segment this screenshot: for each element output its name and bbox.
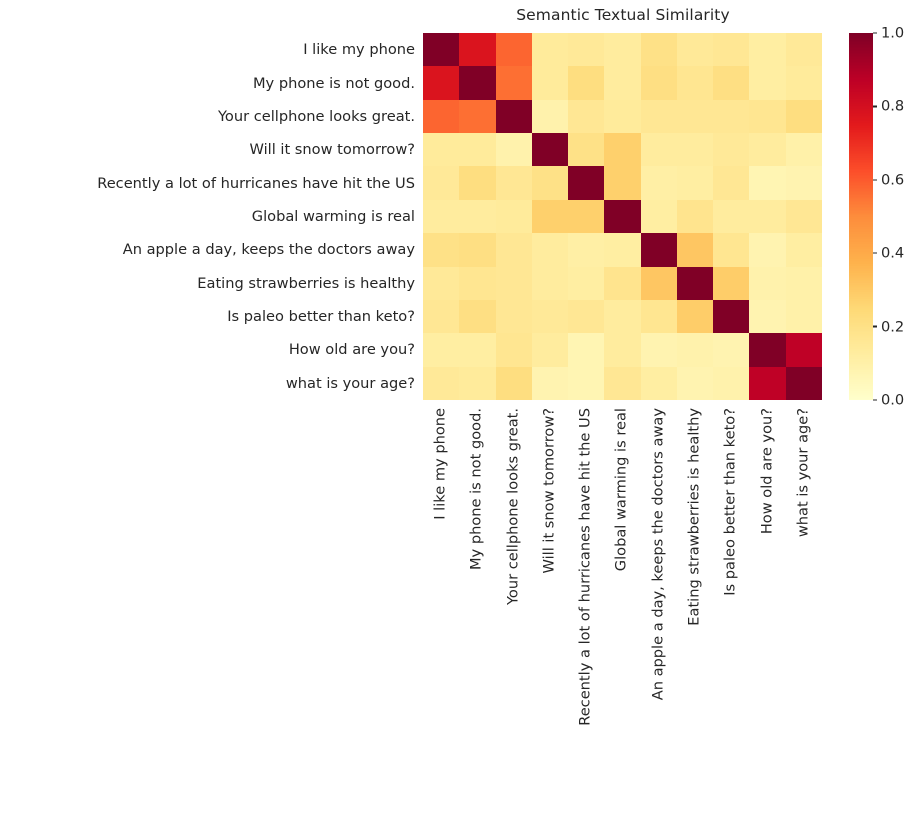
x-tick-slot: An apple a day, keeps the doctors away [641,400,677,820]
heatmap-cell [496,200,532,233]
y-tick-label: My phone is not good. [0,66,415,99]
heatmap-cell [713,200,749,233]
x-tick-slot: Your cellphone looks great. [496,400,532,820]
colorbar-tick-label: 0.6 [881,171,904,188]
heatmap-cell [749,233,785,266]
heatmap-cell [749,133,785,166]
heatmap-cell [568,66,604,99]
heatmap-cell [677,267,713,300]
heatmap-cell [568,100,604,133]
heatmap-cell [568,300,604,333]
heatmap-cell [423,133,459,166]
x-tick-label: Will it snow tomorrow? [543,408,558,574]
colorbar-tick: 1.0 [873,25,904,42]
y-tick-label: Will it snow tomorrow? [0,133,415,166]
heatmap-cell [641,367,677,400]
heatmap-cell [496,100,532,133]
heatmap-cell [641,66,677,99]
y-tick-label: An apple a day, keeps the doctors away [0,233,415,266]
x-tick-label: My phone is not good. [470,408,485,570]
x-tick-slot: what is your age? [786,400,822,820]
heatmap-cell [749,267,785,300]
colorbar-tick-label: 0.4 [881,245,904,262]
x-tick-label: Eating strawberries is healthy [688,408,703,626]
heatmap-cell [749,300,785,333]
heatmap-cell [496,367,532,400]
heatmap-cell [641,100,677,133]
heatmap-cell [459,333,495,366]
heatmap-cell [459,33,495,66]
heatmap-cell [604,233,640,266]
heatmap-cell [786,166,822,199]
x-tick-slot: Eating strawberries is healthy [677,400,713,820]
heatmap-cell [641,200,677,233]
heatmap-cell [532,33,568,66]
heatmap-cell [423,333,459,366]
heatmap-cell [532,66,568,99]
heatmap-cell [713,100,749,133]
x-tick-slot: Is paleo better than keto? [713,400,749,820]
colorbar-tick-label: 0.2 [881,318,904,335]
heatmap-cell [604,166,640,199]
x-tick-label: what is your age? [797,408,812,537]
heatmap-cell [749,367,785,400]
heatmap-cell [604,66,640,99]
heatmap-cell [532,233,568,266]
colorbar-ticks: 0.00.20.40.60.81.0 [873,33,915,400]
y-tick-label: Recently a lot of hurricanes have hit th… [0,166,415,199]
heatmap-cell [459,66,495,99]
heatmap-cell [786,267,822,300]
y-tick-label: Your cellphone looks great. [0,100,415,133]
heatmap-cell [713,133,749,166]
heatmap-cell [568,133,604,166]
heatmap-cell [604,133,640,166]
heatmap-cell [604,33,640,66]
heatmap-cell [604,300,640,333]
heatmap-cell [459,233,495,266]
heatmap-cell [496,66,532,99]
heatmap-cell [568,233,604,266]
colorbar-tick: 0.8 [873,98,904,115]
heatmap-cell [749,66,785,99]
heatmap-cell [423,200,459,233]
heatmap-cell [749,200,785,233]
y-axis-tick-labels: I like my phoneMy phone is not good.Your… [0,33,415,400]
chart-title: Semantic Textual Similarity [423,6,823,24]
heatmap-cell [568,367,604,400]
heatmap-cell [423,233,459,266]
heatmap-cell [641,166,677,199]
x-tick-slot: Recently a lot of hurricanes have hit th… [568,400,604,820]
heatmap-cell [713,66,749,99]
colorbar-tick-mark [873,253,877,254]
x-tick-slot: How old are you? [749,400,785,820]
heatmap-cell [677,367,713,400]
heatmap-cell [749,166,785,199]
y-tick-label: what is your age? [0,367,415,400]
heatmap-cell [459,200,495,233]
heatmap-cell [641,300,677,333]
heatmap-cell [459,300,495,333]
x-axis-tick-labels: I like my phoneMy phone is not good.Your… [423,400,822,820]
heatmap-cell [459,133,495,166]
heatmap-cell [423,166,459,199]
x-tick-label: Is paleo better than keto? [724,408,739,596]
heatmap-cell [749,33,785,66]
heatmap-cell [496,33,532,66]
heatmap-cell [496,333,532,366]
x-tick-slot: Will it snow tomorrow? [532,400,568,820]
heatmap-cell [713,267,749,300]
x-tick-label: How old are you? [760,408,775,534]
heatmap-cell [496,300,532,333]
heatmap-cell [532,133,568,166]
heatmap-cell [713,233,749,266]
colorbar-tick-mark [873,326,877,327]
heatmap-cell [604,200,640,233]
heatmap-cell [459,367,495,400]
heatmap-cell [568,333,604,366]
heatmap-cell [604,333,640,366]
heatmap-cell [786,367,822,400]
heatmap-cell [532,100,568,133]
heatmap-cell [677,166,713,199]
heatmap-cell [641,267,677,300]
heatmap-cell [713,333,749,366]
x-tick-label: I like my phone [434,408,449,520]
colorbar-tick-label: 0.0 [881,392,904,409]
x-tick-label: Global warming is real [615,408,630,571]
heatmap-cell [532,200,568,233]
x-tick-label: An apple a day, keeps the doctors away [651,408,666,700]
heatmap-cell [496,166,532,199]
heatmap-cell [677,133,713,166]
heatmap-cell [532,300,568,333]
y-tick-label: Eating strawberries is healthy [0,267,415,300]
x-tick-slot: My phone is not good. [459,400,495,820]
colorbar-tick-label: 0.8 [881,98,904,115]
heatmap-cell [532,166,568,199]
heatmap-cell [677,200,713,233]
heatmap-cell [713,300,749,333]
heatmap-cell [713,367,749,400]
colorbar-tick-mark [873,106,877,107]
heatmap-cell [677,333,713,366]
y-tick-label: I like my phone [0,33,415,66]
x-tick-slot: Global warming is real [604,400,640,820]
heatmap-cell [786,333,822,366]
x-tick-slot: I like my phone [423,400,459,820]
heatmap-cell [786,200,822,233]
heatmap-cell [496,267,532,300]
heatmap-cell [641,133,677,166]
heatmap-cell [677,233,713,266]
x-tick-label: Your cellphone looks great. [506,408,521,605]
heatmap-cell [677,33,713,66]
heatmap-cell [604,267,640,300]
heatmap-cell [423,33,459,66]
heatmap-cell [713,166,749,199]
colorbar: 0.00.20.40.60.81.0 [849,33,873,400]
heatmap-cell [677,66,713,99]
heatmap-cell [532,267,568,300]
colorbar-tick-label: 1.0 [881,25,904,42]
heatmap-cell [423,267,459,300]
heatmap-cell [423,300,459,333]
heatmap-cell [786,233,822,266]
colorbar-tick: 0.0 [873,392,904,409]
colorbar-gradient [849,33,873,400]
heatmap-cell [423,100,459,133]
y-tick-label: Is paleo better than keto? [0,300,415,333]
heatmap-cell [423,367,459,400]
colorbar-tick: 0.6 [873,171,904,188]
heatmap-figure: Semantic Textual Similarity I like my ph… [0,0,915,826]
heatmap-cell [786,33,822,66]
heatmap-cell [641,333,677,366]
heatmap-cell [459,100,495,133]
heatmap-cell [423,66,459,99]
colorbar-tick-mark [873,399,877,400]
heatmap-cell [459,267,495,300]
heatmap-cell [786,66,822,99]
heatmap-cell [604,367,640,400]
heatmap-cell [568,33,604,66]
heatmap-cell [786,100,822,133]
y-tick-label: Global warming is real [0,200,415,233]
heatmap-cell [532,367,568,400]
heatmap-cell [496,233,532,266]
heatmap-cell [786,133,822,166]
colorbar-tick-mark [873,32,877,33]
heatmap-cell [677,300,713,333]
x-tick-label: Recently a lot of hurricanes have hit th… [579,408,594,726]
heatmap-cell [641,233,677,266]
heatmap-cell [496,133,532,166]
heatmap-cell [459,166,495,199]
colorbar-tick: 0.2 [873,318,904,335]
heatmap-cell [568,166,604,199]
heatmap-cell [641,33,677,66]
heatmap-cell [677,100,713,133]
heatmap-cell [568,267,604,300]
heatmap-cell [749,333,785,366]
heatmap-cell [532,333,568,366]
heatmap-cell [713,33,749,66]
colorbar-tick: 0.4 [873,245,904,262]
heatmap-cell [604,100,640,133]
colorbar-tick-mark [873,179,877,180]
heatmap-cell [749,100,785,133]
y-tick-label: How old are you? [0,333,415,366]
heatmap-grid [423,33,822,400]
heatmap-cell [786,300,822,333]
heatmap-cell [568,200,604,233]
